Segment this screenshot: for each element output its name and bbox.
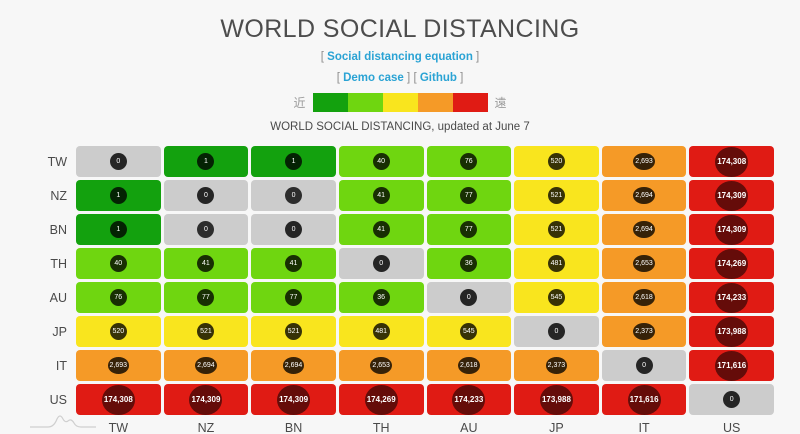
heatmap-cell-tw-nz[interactable]: 1 [164,146,249,177]
row-cells: 174,308174,309174,309174,269174,233173,9… [76,384,774,415]
heatmap-cell-nz-us[interactable]: 174,309 [689,180,774,211]
row-cells: 10041775212,694174,309 [76,214,774,245]
column-label-jp: JP [514,418,599,434]
heatmap-cell-us-bn[interactable]: 174,309 [251,384,336,415]
cell-value-badge: 171,616 [715,351,748,381]
row-label-au: AU [26,291,76,305]
heatmap-cell-jp-tw[interactable]: 520 [76,316,161,347]
cell-value-badge: 520 [548,153,565,170]
heatmap-cell-bn-au[interactable]: 77 [427,214,512,245]
row-label-bn: BN [26,223,76,237]
cell-value-badge: 174,269 [715,249,748,279]
row-label-jp: JP [26,325,76,339]
cell-value-badge: 521 [285,323,302,340]
cell-value-badge: 2,694 [283,357,305,374]
heatmap-cell-jp-us[interactable]: 173,988 [689,316,774,347]
heatmap-cell-us-it[interactable]: 171,616 [602,384,687,415]
heatmap-cell-bn-nz[interactable]: 0 [164,214,249,245]
heatmap-cell-bn-jp[interactable]: 521 [514,214,599,245]
row-label-it: IT [26,359,76,373]
legend-swatch-4 [453,93,488,112]
heatmap-cell-au-bn[interactable]: 77 [251,282,336,313]
legend-swatch-2 [383,93,418,112]
heatmap-cell-tw-au[interactable]: 76 [427,146,512,177]
heatmap-cell-it-bn[interactable]: 2,694 [251,350,336,381]
cell-value-badge: 2,693 [108,357,130,374]
page-root: WORLD SOCIAL DISTANCING [ Social distanc… [0,14,800,434]
heatmap-cell-jp-au[interactable]: 545 [427,316,512,347]
table-row: NZ10041775212,694174,309 [26,180,774,211]
heatmap-cell-it-au[interactable]: 2,618 [427,350,512,381]
heatmap-cell-au-tw[interactable]: 76 [76,282,161,313]
cell-value-badge: 0 [460,289,477,306]
cell-value-badge: 36 [373,289,390,306]
cell-value-badge: 40 [373,153,390,170]
cell-value-badge: 0 [110,153,127,170]
heatmap-cell-bn-it[interactable]: 2,694 [602,214,687,245]
cell-value-badge: 2,618 [458,357,480,374]
cell-value-badge: 1 [197,153,214,170]
table-row: TH4041410364812,653174,269 [26,248,774,279]
cell-value-badge: 2,373 [633,323,655,340]
column-label-bn: BN [251,418,336,434]
row-cells: 7677773605452,618174,233 [76,282,774,313]
column-label-th: TH [339,418,424,434]
legend-swatch-0 [313,93,348,112]
cell-value-badge: 174,309 [189,385,222,415]
cell-value-badge: 40 [110,255,127,272]
cell-value-badge: 174,308 [715,147,748,177]
heatmap-cell-au-au[interactable]: 0 [427,282,512,313]
heatmap-cell-jp-nz[interactable]: 521 [164,316,249,347]
heatmap-cell-tw-bn[interactable]: 1 [251,146,336,177]
cell-value-badge: 77 [460,187,477,204]
cell-value-badge: 173,988 [540,385,573,415]
heatmap-cell-nz-th[interactable]: 41 [339,180,424,211]
heatmap-cell-th-us[interactable]: 174,269 [689,248,774,279]
cell-value-badge: 481 [373,323,390,340]
cell-value-badge: 0 [197,221,214,238]
heatmap-cell-tw-th[interactable]: 40 [339,146,424,177]
legend-far-label: 遠 [495,94,507,111]
cell-value-badge: 2,373 [546,357,568,374]
cell-value-badge: 41 [373,221,390,238]
cell-value-badge: 174,309 [277,385,310,415]
heatmap-cell-th-it[interactable]: 2,653 [602,248,687,279]
heatmap-cell-au-jp[interactable]: 545 [514,282,599,313]
cell-value-badge: 1 [110,221,127,238]
cell-value-badge: 520 [110,323,127,340]
heatmap-cell-us-us[interactable]: 0 [689,384,774,415]
heatmap-cell-it-jp[interactable]: 2,373 [514,350,599,381]
column-label-au: AU [427,418,512,434]
cell-value-badge: 0 [285,221,302,238]
table-row: AU7677773605452,618174,233 [26,282,774,313]
heatmap-cell-jp-th[interactable]: 481 [339,316,424,347]
cell-value-badge: 0 [285,187,302,204]
bracket-open: [ [321,51,324,63]
link-row-equation: [ Social distancing equation ] [0,49,800,65]
column-label-nz: NZ [164,418,249,434]
bracket-open: [ [337,72,340,84]
cell-value-badge: 174,309 [715,215,748,245]
cell-value-badge: 521 [548,187,565,204]
cell-value-badge: 2,694 [633,187,655,204]
heatmap-cell-it-us[interactable]: 171,616 [689,350,774,381]
table-row: TW01140765202,693174,308 [26,146,774,177]
column-label-us: US [689,418,774,434]
bracket-close: ] [476,51,479,63]
heatmap-cell-jp-bn[interactable]: 521 [251,316,336,347]
cell-value-badge: 0 [197,187,214,204]
cell-value-badge: 0 [723,391,740,408]
cell-value-badge: 173,988 [715,317,748,347]
cell-value-badge: 77 [197,289,214,306]
page-title: WORLD SOCIAL DISTANCING [0,14,800,44]
cell-value-badge: 545 [548,289,565,306]
cell-value-badge: 521 [548,221,565,238]
cell-value-badge: 41 [373,187,390,204]
heatmap-cell-th-bn[interactable]: 41 [251,248,336,279]
row-cells: 52052152148154502,373173,988 [76,316,774,347]
heatmap-cell-th-tw[interactable]: 40 [76,248,161,279]
heatmap-cell-us-au[interactable]: 174,233 [427,384,512,415]
cell-value-badge: 1 [110,187,127,204]
heatmap-cell-us-nz[interactable]: 174,309 [164,384,249,415]
cell-value-badge: 2,653 [370,357,392,374]
legend-swatch-3 [418,93,453,112]
link-row-demo-github: [ Demo case ] [ Github ] [0,70,800,86]
cell-value-badge: 36 [460,255,477,272]
heatmap-cell-tw-it[interactable]: 2,693 [602,146,687,177]
chart-subcaption: WORLD SOCIAL DISTANCING, updated at June… [0,120,800,134]
row-cells: 2,6932,6942,6942,6532,6182,3730171,616 [76,350,774,381]
heatmap-cell-nz-jp[interactable]: 521 [514,180,599,211]
cell-value-badge: 2,618 [633,289,655,306]
table-row: JP52052152148154502,373173,988 [26,316,774,347]
cell-value-badge: 545 [460,323,477,340]
legend-swatch-1 [348,93,383,112]
heatmap-cell-jp-it[interactable]: 2,373 [602,316,687,347]
row-cells: 4041410364812,653174,269 [76,248,774,279]
cell-value-badge: 174,308 [102,385,135,415]
github-link[interactable]: Github [420,72,457,84]
heatmap-cell-it-it[interactable]: 0 [602,350,687,381]
cell-value-badge: 174,233 [715,283,748,313]
column-label-row: TWNZBNTHAUJPITUS [26,418,774,434]
cell-value-badge: 0 [636,357,653,374]
heatmap-cell-nz-au[interactable]: 77 [427,180,512,211]
heatmap-cell-us-jp[interactable]: 173,988 [514,384,599,415]
bracket-close: ] [407,72,410,84]
heatmap-cell-au-us[interactable]: 174,233 [689,282,774,313]
cell-value-badge: 174,233 [452,385,485,415]
social-distancing-equation-link[interactable]: Social distancing equation [327,51,473,63]
sparkline-decoration [28,412,98,432]
heatmap-cell-th-jp[interactable]: 481 [514,248,599,279]
heatmap-cell-au-nz[interactable]: 77 [164,282,249,313]
row-label-tw: TW [26,155,76,169]
cell-value-badge: 0 [373,255,390,272]
heatmap-cell-us-tw[interactable]: 174,308 [76,384,161,415]
row-cells: 01140765202,693174,308 [76,146,774,177]
heatmap-cell-th-au[interactable]: 36 [427,248,512,279]
column-labels: TWNZBNTHAUJPITUS [76,418,774,434]
row-label-us: US [26,393,76,407]
heatmap-cell-us-th[interactable]: 174,269 [339,384,424,415]
table-row: BN10041775212,694174,309 [26,214,774,245]
demo-case-link[interactable]: Demo case [343,72,404,84]
heatmap-cell-au-th[interactable]: 36 [339,282,424,313]
row-label-nz: NZ [26,189,76,203]
bracket-open: [ [413,72,416,84]
distance-matrix-heatmap: TW01140765202,693174,308NZ10041775212,69… [26,146,774,434]
heatmap-cell-nz-it[interactable]: 2,694 [602,180,687,211]
heatmap-cell-it-nz[interactable]: 2,694 [164,350,249,381]
cell-value-badge: 2,693 [633,153,655,170]
cell-value-badge: 76 [110,289,127,306]
cell-value-badge: 2,694 [633,221,655,238]
cell-value-badge: 174,309 [715,181,748,211]
legend-gradient-bar [313,93,488,112]
bracket-close: ] [460,72,463,84]
heatmap-cell-tw-tw[interactable]: 0 [76,146,161,177]
table-row: IT2,6932,6942,6942,6532,6182,3730171,616 [26,350,774,381]
cell-value-badge: 77 [285,289,302,306]
row-cells: 10041775212,694174,309 [76,180,774,211]
heatmap-cell-bn-tw[interactable]: 1 [76,214,161,245]
cell-value-badge: 521 [197,323,214,340]
heatmap-cell-tw-us[interactable]: 174,308 [689,146,774,177]
heatmap-cell-it-tw[interactable]: 2,693 [76,350,161,381]
cell-value-badge: 41 [285,255,302,272]
color-legend: 近 遠 [0,93,800,112]
heatmap-cell-nz-tw[interactable]: 1 [76,180,161,211]
heatmap-cell-bn-us[interactable]: 174,309 [689,214,774,245]
cell-value-badge: 77 [460,221,477,238]
cell-value-badge: 171,616 [628,385,661,415]
heatmap-cell-jp-jp[interactable]: 0 [514,316,599,347]
table-row: US174,308174,309174,309174,269174,233173… [26,384,774,415]
heatmap-cell-bn-bn[interactable]: 0 [251,214,336,245]
cell-value-badge: 481 [548,255,565,272]
row-label-th: TH [26,257,76,271]
column-label-it: IT [602,418,687,434]
heatmap-cell-nz-nz[interactable]: 0 [164,180,249,211]
heatmap-cell-it-th[interactable]: 2,653 [339,350,424,381]
cell-value-badge: 174,269 [365,385,398,415]
heatmap-cell-th-th[interactable]: 0 [339,248,424,279]
heatmap-cell-bn-th[interactable]: 41 [339,214,424,245]
cell-value-badge: 2,653 [633,255,655,272]
legend-near-label: 近 [293,94,305,111]
cell-value-badge: 76 [460,153,477,170]
heatmap-cell-au-it[interactable]: 2,618 [602,282,687,313]
cell-value-badge: 41 [197,255,214,272]
heatmap-cell-nz-bn[interactable]: 0 [251,180,336,211]
cell-value-badge: 2,694 [195,357,217,374]
cell-value-badge: 1 [285,153,302,170]
heatmap-cell-th-nz[interactable]: 41 [164,248,249,279]
heatmap-cell-tw-jp[interactable]: 520 [514,146,599,177]
cell-value-badge: 0 [548,323,565,340]
